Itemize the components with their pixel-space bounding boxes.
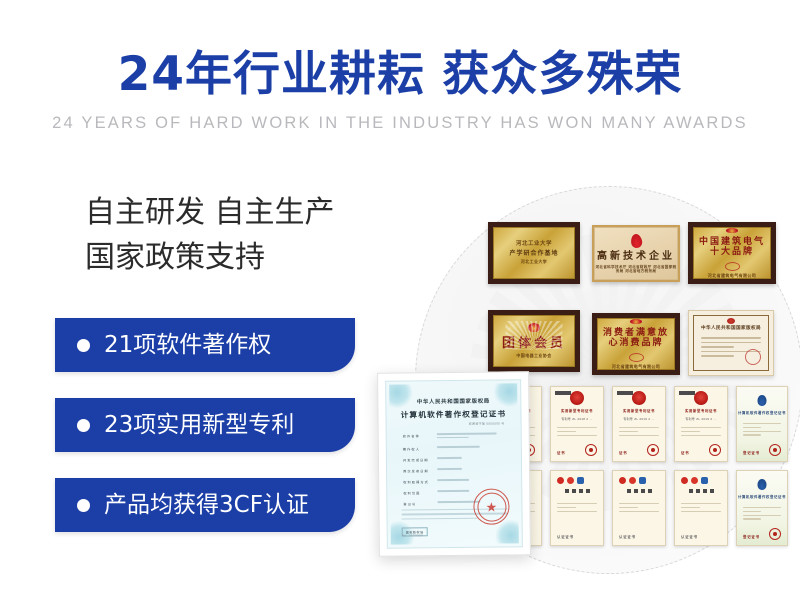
small-cert-r3-3-footer: 证书 bbox=[619, 450, 627, 455]
plaque-row1-1-arc: 河北工业大学 bbox=[516, 241, 552, 247]
certificate-field-row: 软件名称 bbox=[403, 432, 507, 440]
highlight-banner-1[interactable]: 21项软件著作权 bbox=[55, 318, 355, 372]
plaque-row1-3-title: 中国建筑电气十大品牌 bbox=[694, 238, 770, 258]
header-bar bbox=[555, 391, 571, 395]
dot-icon bbox=[77, 499, 90, 512]
dot-icon bbox=[77, 339, 90, 352]
plaque-row2-1-sub: 中国电器工业协会 bbox=[516, 354, 551, 358]
red-seal-icon bbox=[647, 444, 659, 456]
small-cert-r3-3-sub: 专利号 ZL 2019 2 … bbox=[613, 417, 665, 421]
promo-banner: 24年行业耕耘 获众多殊荣 24 YEARS OF HARD WORK IN T… bbox=[0, 0, 800, 592]
plaque-row2-3-title: 中华人民共和国国家版权局 bbox=[689, 325, 773, 331]
national-emblem-icon bbox=[630, 319, 642, 324]
ccc-logo-icon bbox=[557, 477, 584, 484]
small-cert-r3-4-sub: 专利号 ZL 2019 2 … bbox=[675, 417, 727, 421]
lead-text-block: 自主研发 自主生产 国家政策支持 bbox=[85, 190, 405, 280]
plaque-row1-3: 中国建筑电气十大品牌 河北省建筑电气有限公司 bbox=[688, 222, 776, 284]
header-bar bbox=[617, 391, 633, 395]
page-subtitle: 24 YEARS OF HARD WORK IN THE INDUSTRY HA… bbox=[0, 113, 800, 133]
small-cert-r4-3-footer: 认证证书 bbox=[619, 534, 636, 539]
field-label: 著作权人 bbox=[403, 446, 437, 451]
red-seal-icon bbox=[629, 353, 644, 362]
certificate-field-row: 开发完成日期 bbox=[403, 456, 507, 462]
small-cert-r3-4-title: 实用新型专利证书 bbox=[675, 408, 727, 413]
plaque-row1-3-sub: 河北省建筑电气有限公司 bbox=[708, 274, 756, 278]
small-cert-r4-2: 认证证书 bbox=[550, 470, 604, 546]
red-seal-icon bbox=[632, 391, 646, 405]
small-cert-r4-5-footer: 登记证书 bbox=[743, 534, 760, 539]
software-copyright-certificate: 中华人民共和国国家版权局 计算机软件著作权登记证书 软著登字第 0000000 … bbox=[377, 371, 531, 557]
red-seal-icon bbox=[570, 391, 584, 405]
small-cert-r3-2-sub: 专利号 ZL 2018 2 … bbox=[551, 417, 603, 421]
ccc-logo-icon bbox=[619, 477, 646, 484]
small-cert-r3-5-title: 计算机软件著作权登记证书 bbox=[737, 410, 787, 415]
plaque-row2-1-title: 团体会员 bbox=[502, 337, 566, 351]
small-cert-r3-4: 实用新型专利证书 专利号 ZL 2019 2 … 证书 bbox=[674, 386, 728, 462]
header-bar bbox=[679, 391, 695, 395]
small-cert-r3-2-footer: 证书 bbox=[557, 450, 565, 455]
small-cert-r3-5: 计算机软件著作权登记证书 登记证书 bbox=[736, 386, 788, 462]
small-cert-r4-2-footer: 认证证书 bbox=[557, 534, 574, 539]
plaque-row2-3: 中华人民共和国国家版权局 bbox=[688, 310, 774, 376]
certificate-field-row: 著作权人 bbox=[403, 445, 507, 451]
certificate-authority: 中华人民共和国国家版权局 bbox=[386, 396, 520, 405]
small-cert-r4-5-title: 计算机软件著作权登记证书 bbox=[737, 494, 787, 499]
certificate-number: 软著登字第 0000000 号 bbox=[469, 421, 505, 425]
certificate-title: 计算机软件著作权登记证书 bbox=[386, 408, 520, 420]
field-label: 权利范围 bbox=[403, 490, 437, 495]
highlight-banner-2[interactable]: 23项实用新型专利 bbox=[55, 398, 355, 452]
small-cert-r3-2-title: 实用新型专利证书 bbox=[551, 408, 603, 413]
small-cert-r4-4-footer: 认证证书 bbox=[681, 534, 698, 539]
red-star-seal-icon: ★ bbox=[473, 488, 509, 524]
field-label: 开发完成日期 bbox=[403, 457, 437, 462]
field-label: 软件名称 bbox=[403, 433, 437, 438]
plaque-row1-1-sub: 河北工业大学 bbox=[521, 260, 547, 264]
plaque-row1-2: 高新技术企业 河北省科学技术厅 河北省财政厅 河北省国家税务局 河北省地方税务局 bbox=[592, 225, 680, 282]
emblem-icon bbox=[727, 318, 735, 324]
small-cert-r3-4-footer: 证书 bbox=[681, 450, 689, 455]
square-marks bbox=[613, 489, 665, 493]
highlight-banner-3[interactable]: 产品均获得3CF认证 bbox=[55, 478, 355, 532]
red-seal-icon bbox=[769, 444, 781, 456]
plaque-row1-1: 河北工业大学 产学研合作基地 河北工业大学 bbox=[488, 222, 580, 284]
small-cert-r4-3: 认证证书 bbox=[612, 470, 666, 546]
plaque-row2-2: 消费者满意放心消费品牌 河北省建筑电气有限公司 bbox=[592, 313, 680, 375]
plaque-row2-1: 团体会员 中国电器工业协会 bbox=[488, 310, 580, 372]
plaque-row1-2-sub: 河北省科学技术厅 河北省财政厅 河北省国家税务局 河北省地方税务局 bbox=[595, 266, 677, 274]
small-cert-r4-4: 认证证书 bbox=[674, 470, 728, 546]
red-seal-icon bbox=[769, 528, 781, 540]
certificate-field-row: 首次发表日期 bbox=[403, 467, 507, 473]
lead-line-2: 国家政策支持 bbox=[85, 235, 405, 280]
red-seal-icon bbox=[585, 444, 597, 456]
field-label: 权利取得方式 bbox=[403, 479, 437, 484]
highlight-banner-2-label: 23项实用新型专利 bbox=[104, 412, 294, 438]
plaque-row2-2-sub: 河北省建筑电气有限公司 bbox=[612, 365, 660, 369]
small-cert-r3-5-footer: 登记证书 bbox=[743, 450, 760, 455]
certificate-footer-number: No. 0000000 bbox=[402, 533, 424, 537]
plaque-row2-2-title: 消费者满意放心消费品牌 bbox=[598, 329, 674, 349]
square-marks bbox=[675, 489, 727, 493]
ccc-logo-icon bbox=[681, 477, 708, 484]
blue-logo-icon bbox=[758, 395, 767, 406]
small-cert-r3-3: 实用新型专利证书 专利号 ZL 2019 2 … 证书 bbox=[612, 386, 666, 462]
lead-line-1: 自主研发 自主生产 bbox=[85, 190, 405, 235]
header: 24年行业耕耘 获众多殊荣 24 YEARS OF HARD WORK IN T… bbox=[0, 48, 800, 133]
flame-icon bbox=[630, 233, 643, 248]
red-seal-icon bbox=[745, 349, 761, 365]
red-seal-icon bbox=[709, 444, 721, 456]
highlight-banner-1-label: 21项软件著作权 bbox=[104, 332, 271, 358]
red-seal-icon bbox=[694, 391, 708, 405]
dot-icon bbox=[77, 419, 90, 432]
small-cert-r3-3-title: 实用新型专利证书 bbox=[613, 408, 665, 413]
plaque-row1-1-title: 产学研合作基地 bbox=[509, 251, 558, 258]
field-label: 首次发表日期 bbox=[403, 468, 437, 473]
highlight-banner-3-label: 产品均获得3CF认证 bbox=[104, 492, 309, 518]
national-emblem-icon bbox=[726, 228, 738, 233]
small-cert-r4-5: 计算机软件著作权登记证书 登记证书 bbox=[736, 470, 788, 546]
national-emblem-icon bbox=[528, 323, 540, 332]
highlight-banner-list: 21项软件著作权 23项实用新型专利 产品均获得3CF认证 bbox=[55, 318, 375, 558]
plaque-row1-2-title: 高新技术企业 bbox=[597, 251, 675, 262]
page-title: 24年行业耕耘 获众多殊荣 bbox=[0, 48, 800, 102]
small-cert-r3-2: 实用新型专利证书 专利号 ZL 2018 2 … 证书 bbox=[550, 386, 604, 462]
field-label: 登记号 bbox=[403, 501, 437, 506]
certificate-field-row: 权利取得方式 bbox=[403, 478, 507, 484]
blue-logo-icon bbox=[758, 479, 767, 490]
red-seal-icon bbox=[725, 262, 740, 271]
square-marks bbox=[551, 489, 603, 493]
